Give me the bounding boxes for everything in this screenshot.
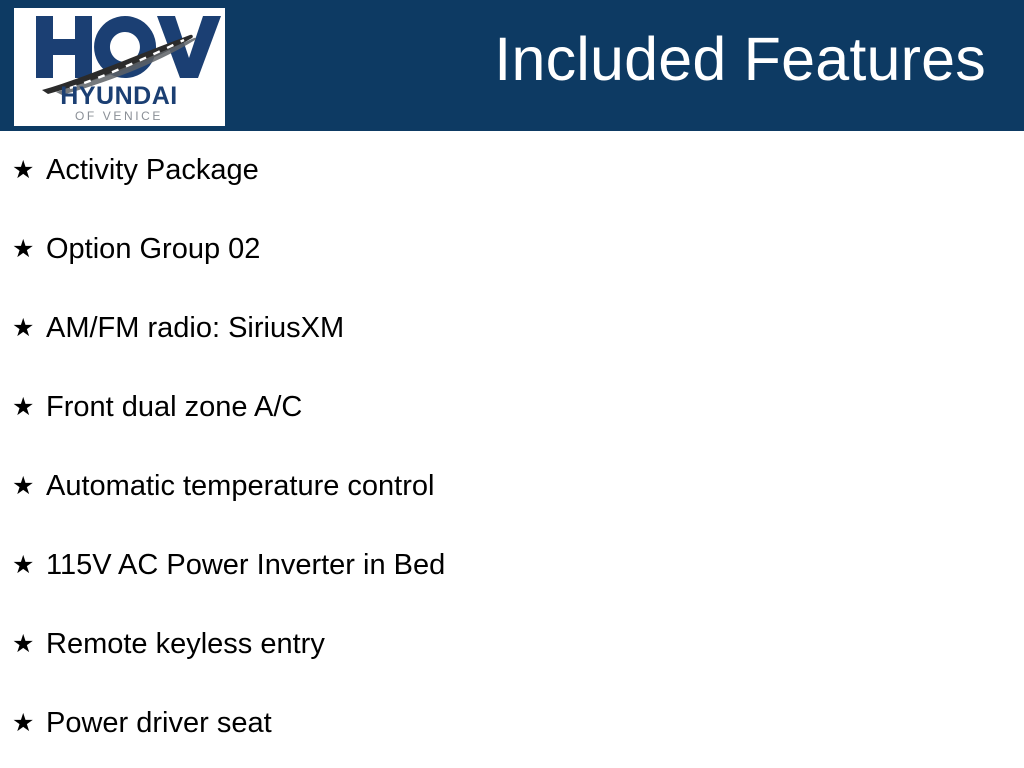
logo-of-venice-text: OF VENICE	[75, 109, 163, 123]
list-item-label: Power driver seat	[46, 706, 272, 741]
logo-hyundai-text: HYUNDAI	[60, 82, 177, 110]
list-item: ★ 115V AC Power Inverter in Bed	[0, 526, 1024, 605]
list-item-label: Automatic temperature control	[46, 469, 434, 504]
star-icon: ★	[12, 395, 46, 420]
list-item-label: Remote keyless entry	[46, 627, 325, 662]
list-item-label: Option Group 02	[46, 232, 260, 267]
star-icon: ★	[12, 711, 46, 736]
dealer-logo: HYUNDAI OF VENICE	[14, 8, 225, 126]
list-item: ★ Activity Package	[0, 131, 1024, 210]
page-title: Included Features	[494, 26, 986, 93]
list-item: ★ Option Group 02	[0, 210, 1024, 289]
star-icon: ★	[12, 158, 46, 183]
star-icon: ★	[12, 474, 46, 499]
included-features-list: ★ Activity Package ★ Option Group 02 ★ A…	[0, 131, 1024, 768]
star-icon: ★	[12, 553, 46, 578]
star-icon: ★	[12, 237, 46, 262]
list-item-label: 115V AC Power Inverter in Bed	[46, 548, 445, 583]
list-item: ★ Remote keyless entry	[0, 605, 1024, 684]
list-item-label: AM/FM radio: SiriusXM	[46, 311, 344, 346]
list-item-label: Activity Package	[46, 153, 259, 188]
list-item-label: Front dual zone A/C	[46, 390, 302, 425]
list-item: ★ Power driver seat	[0, 684, 1024, 763]
list-item: ★ Front dual zone A/C	[0, 368, 1024, 447]
star-icon: ★	[12, 316, 46, 341]
list-item: ★ AM/FM radio: SiriusXM	[0, 289, 1024, 368]
logo-artwork: HYUNDAI OF VENICE	[14, 8, 225, 126]
star-icon: ★	[12, 632, 46, 657]
list-item: ★ Automatic temperature control	[0, 447, 1024, 526]
